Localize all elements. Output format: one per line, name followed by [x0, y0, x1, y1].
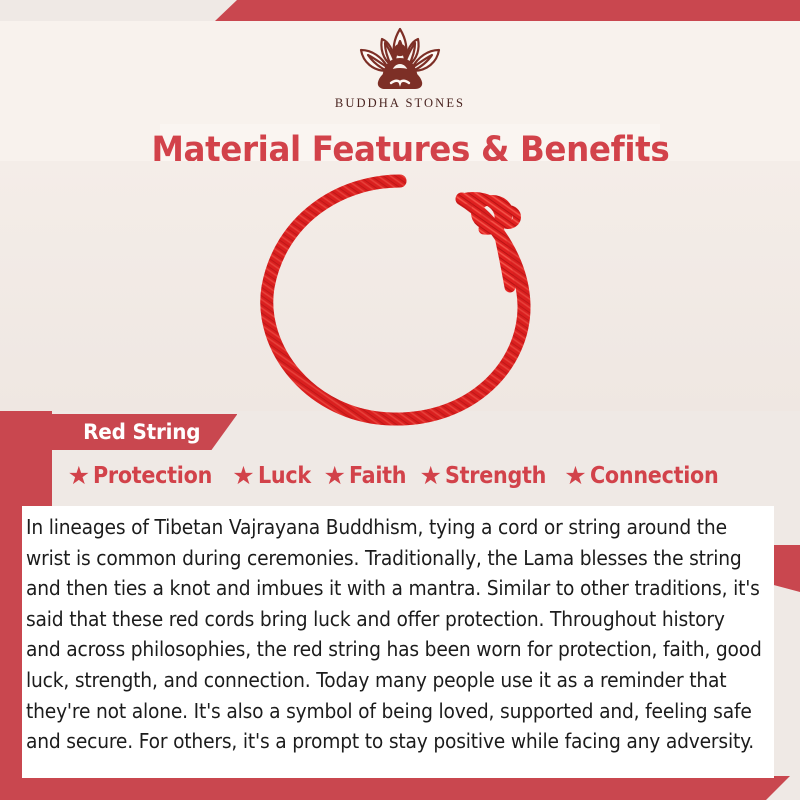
material-features-infographic: BUDDHA STONES Material Features & Benefi… [0, 0, 800, 800]
star-icon: ★ [68, 464, 90, 489]
description-block: In lineages of Tibetan Vajrayana Buddhis… [22, 506, 774, 778]
star-icon: ★ [323, 464, 345, 489]
benefit-label: Connection [590, 463, 718, 489]
header: BUDDHA STONES Material Features & Benefi… [0, 21, 800, 161]
benefit-item-strength: ★ Strength [420, 463, 558, 489]
brand-logo: BUDDHA STONES [0, 23, 800, 111]
decorative-bar-top-right [215, 0, 800, 21]
material-name-label: Red String [83, 420, 200, 444]
star-icon: ★ [232, 464, 254, 489]
benefit-item-faith: ★ Faith [323, 463, 412, 489]
benefit-item-protection: ★ Protection [68, 463, 226, 489]
star-icon: ★ [420, 464, 442, 489]
brand-name: BUDDHA STONES [0, 96, 800, 111]
benefit-label: Protection [93, 463, 212, 489]
lotus-meditation-figure-icon [325, 23, 475, 95]
hands-mudra-icon [391, 81, 409, 83]
star-icon: ★ [564, 464, 586, 489]
description-text: In lineages of Tibetan Vajrayana Buddhis… [26, 512, 763, 757]
benefit-label: Luck [258, 463, 311, 489]
benefit-item-connection: ★ Connection [564, 463, 732, 489]
red-braided-bracelet-icon [240, 169, 560, 434]
benefit-label: Faith [349, 463, 406, 489]
material-name-ribbon: Red String [28, 414, 237, 450]
benefits-list: ★ Protection ★ Luck ★ Faith ★ Strength ★… [0, 463, 800, 489]
decorative-bar-bottom-left [0, 776, 790, 800]
product-image [0, 161, 800, 441]
benefit-item-luck: ★ Luck [232, 463, 316, 489]
benefit-label: Strength [445, 463, 546, 489]
